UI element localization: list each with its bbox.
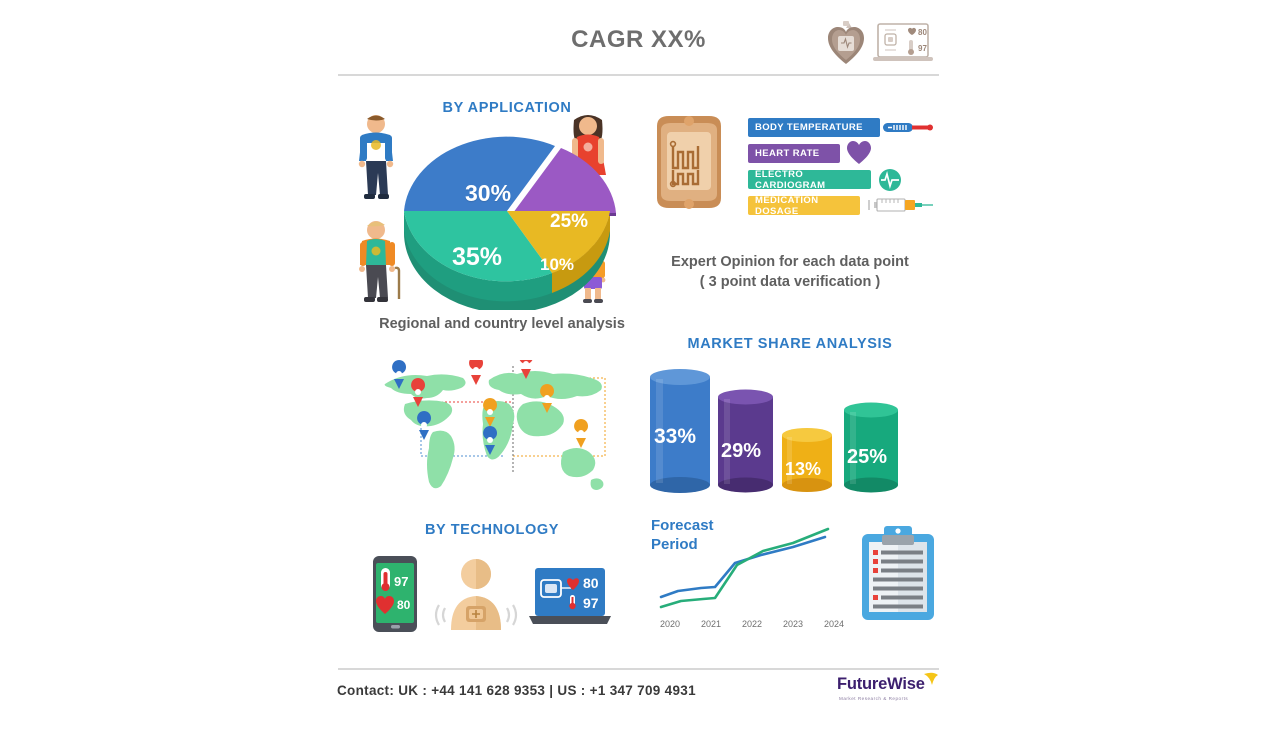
technology-icons: 97 80 80	[367, 552, 617, 642]
contact-line: Contact: UK : +44 141 628 9353 | US : +1…	[337, 683, 696, 698]
svg-text:80: 80	[397, 598, 411, 612]
cylinder-bar-2: 29%	[718, 390, 773, 493]
header-divider	[338, 74, 939, 76]
footer-divider	[338, 668, 939, 670]
svg-text:97: 97	[918, 44, 927, 53]
svg-text:29%: 29%	[721, 440, 761, 462]
heart-icon	[846, 140, 872, 165]
header: CAGR XX% 80 97	[337, 18, 940, 76]
svg-text:97: 97	[394, 574, 408, 589]
cylinder-bar-3: 13%	[782, 428, 832, 492]
heading-by-technology: BY TECHNOLOGY	[367, 522, 617, 538]
svg-text:33%: 33%	[654, 425, 696, 448]
sensor-row-electro-cardiogram: ELECTRO CARDIOGRAM	[748, 170, 871, 189]
sensor-row-heart-rate: HEART RATE	[748, 144, 840, 163]
forecast-year-2024: 2024	[814, 619, 854, 629]
thermometer-icon	[883, 119, 933, 136]
forecast-year-2022: 2022	[732, 619, 772, 629]
cylinder-bar-1: 33%	[650, 369, 710, 493]
forecast-year-2023: 2023	[773, 619, 813, 629]
sensor-label: ELECTRO CARDIOGRAM	[755, 169, 871, 191]
sensor-label: BODY TEMPERATURE	[755, 122, 863, 133]
world-map	[377, 360, 612, 500]
forecast-year-2020: 2020	[650, 619, 690, 629]
svg-text:10%: 10%	[540, 255, 574, 274]
expert-line-1: Expert Opinion for each data point	[640, 252, 940, 272]
infographic-page: CAGR XX% 80 97	[337, 0, 940, 731]
logo-name: FutureWise	[837, 675, 925, 694]
sensor-chip-icon	[647, 112, 742, 222]
heading-regional-analysis: Regional and country level analysis	[367, 315, 637, 334]
laptop-vitals-icon: 80 97	[872, 22, 934, 66]
futurewise-logo: FutureWise Market Research & Reports	[837, 675, 940, 709]
syringe-icon	[868, 196, 934, 214]
pie-chart-by-application: 30% 25% 35% 10%	[392, 115, 622, 310]
logo-swoosh-icon	[923, 672, 939, 688]
heart-chip-icon	[826, 20, 866, 66]
svg-text:25%: 25%	[847, 446, 887, 468]
heading-market-share: MARKET SHARE ANALYSIS	[640, 336, 940, 352]
svg-text:35%: 35%	[452, 243, 502, 271]
expert-line-2: ( 3 point data verification )	[640, 272, 940, 292]
svg-text:13%: 13%	[785, 459, 821, 479]
laptop-vitals-icon: 80 97	[529, 568, 611, 632]
svg-text:80: 80	[918, 28, 927, 37]
svg-text:30%: 30%	[465, 180, 511, 206]
cylinder-bar-chart: 33% 29% 13% 25%	[640, 365, 930, 493]
header-icons: 80 97	[826, 20, 936, 68]
body-sensor-icon	[433, 558, 519, 634]
svg-text:25%: 25%	[550, 211, 588, 232]
clipboard-icon	[862, 526, 934, 620]
forecast-lines	[653, 517, 853, 617]
svg-text:97: 97	[583, 595, 599, 611]
sensor-label: MEDICATION DOSAGE	[755, 195, 860, 217]
svg-text:80: 80	[583, 575, 599, 591]
ecg-icon	[878, 168, 902, 192]
expert-opinion-text: Expert Opinion for each data point ( 3 p…	[640, 252, 940, 292]
cylinder-bar-4: 25%	[844, 403, 898, 493]
logo-tagline: Market Research & Reports	[839, 696, 908, 701]
forecast-year-2021: 2021	[691, 619, 731, 629]
forecast-chart: Forecast Period 2020 2021 2022 2023 2024	[647, 512, 937, 637]
sensor-label: HEART RATE	[755, 148, 820, 159]
sensor-row-medication-dosage: MEDICATION DOSAGE	[748, 196, 860, 215]
sensor-row-body-temperature: BODY TEMPERATURE	[748, 118, 880, 137]
phone-vitals-icon: 97 80	[373, 556, 417, 632]
